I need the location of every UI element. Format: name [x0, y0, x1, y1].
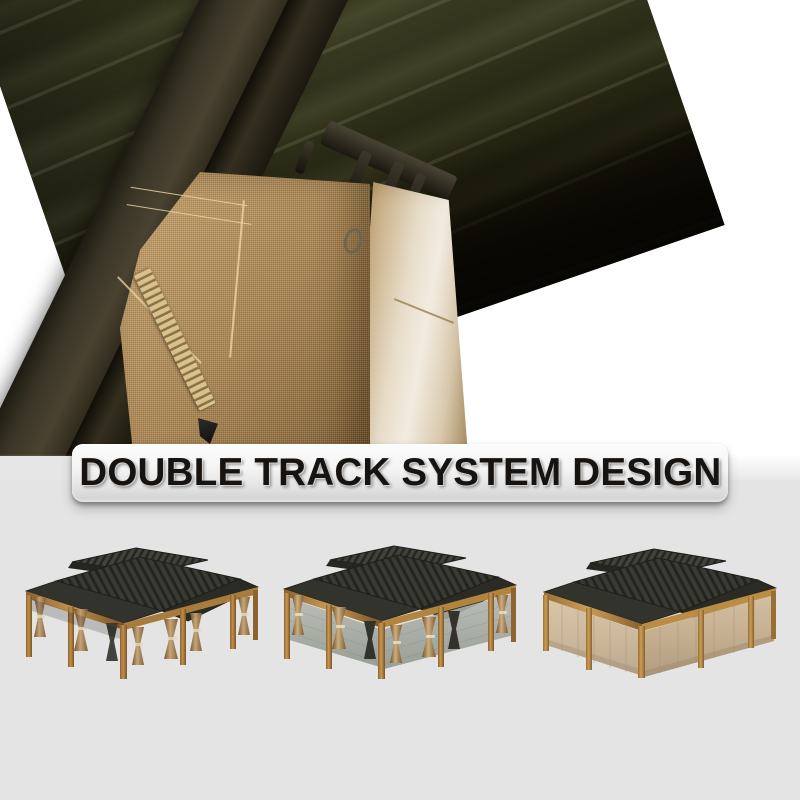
- page-title: DOUBLE TRACK SYSTEM DESIGN: [79, 451, 721, 495]
- mode-card-inner-netting[interactable]: [272, 535, 528, 745]
- hero-photo: [0, 0, 800, 480]
- mode-card-fully-open[interactable]: [12, 535, 268, 745]
- gazebo-illustration-fully-open: [12, 535, 268, 685]
- mode-card-outer-curtains[interactable]: [528, 535, 784, 745]
- gazebo-illustration-inner-netting: [272, 535, 528, 685]
- mode-cards: [0, 480, 800, 800]
- modes-panel: Fully Open Inner Netting Outer Curtains: [0, 480, 800, 800]
- gazebo-illustration-outer-curtains: [528, 535, 784, 685]
- banner: DOUBLE TRACK SYSTEM DESIGN: [72, 444, 728, 502]
